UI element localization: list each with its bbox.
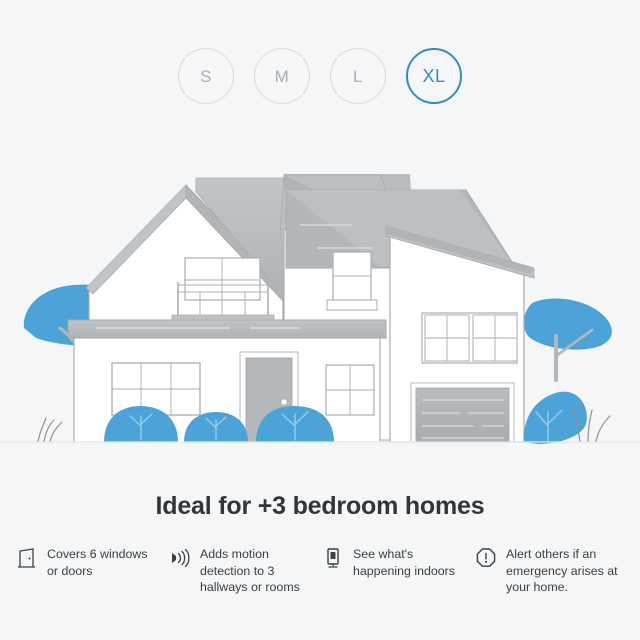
page-title: Ideal for +3 bedroom homes bbox=[0, 492, 640, 521]
size-option-label: L bbox=[353, 68, 363, 85]
window-front-left bbox=[112, 363, 200, 415]
size-option-l[interactable]: L bbox=[330, 48, 386, 104]
feature-item-indoor-camera: See what's happening indoors bbox=[320, 546, 473, 579]
garage-door bbox=[411, 383, 514, 442]
tree-right-icon bbox=[524, 298, 612, 380]
size-option-m[interactable]: M bbox=[254, 48, 310, 104]
window-upper-mid bbox=[327, 252, 377, 310]
size-option-label: S bbox=[200, 68, 212, 85]
product-size-panel: S M L XL bbox=[0, 0, 640, 640]
indoor-camera-icon bbox=[320, 546, 346, 573]
bush-far-right-icon bbox=[524, 392, 587, 444]
size-option-label: XL bbox=[422, 67, 445, 85]
grass-left-icon bbox=[38, 418, 62, 442]
feature-item-text: Adds motion detection to 3 hallways or r… bbox=[193, 546, 314, 596]
door-icon bbox=[14, 546, 40, 573]
size-selector: S M L XL bbox=[0, 48, 640, 104]
feature-item-text: See what's happening indoors bbox=[346, 546, 467, 579]
size-option-xl[interactable]: XL bbox=[406, 48, 462, 104]
size-option-label: M bbox=[275, 68, 290, 85]
window-front-mid bbox=[326, 365, 374, 415]
feature-list: Covers 6 windows or doors Adds motion de… bbox=[14, 546, 626, 596]
feature-item-motion-detection: Adds motion detection to 3 hallways or r… bbox=[167, 546, 320, 596]
panic-alert-icon bbox=[473, 546, 499, 573]
feature-item-emergency-alert: Alert others if an emergency arises at y… bbox=[473, 546, 626, 596]
feature-item-text: Covers 6 windows or doors bbox=[40, 546, 161, 579]
balcony-railing bbox=[172, 282, 274, 320]
feature-item-text: Alert others if an emergency arises at y… bbox=[499, 546, 620, 596]
house-illustration bbox=[0, 130, 640, 480]
motion-sensor-icon bbox=[167, 546, 193, 573]
size-option-s[interactable]: S bbox=[178, 48, 234, 104]
feature-item-door-coverage: Covers 6 windows or doors bbox=[14, 546, 167, 579]
window-garage-upper bbox=[422, 313, 517, 363]
